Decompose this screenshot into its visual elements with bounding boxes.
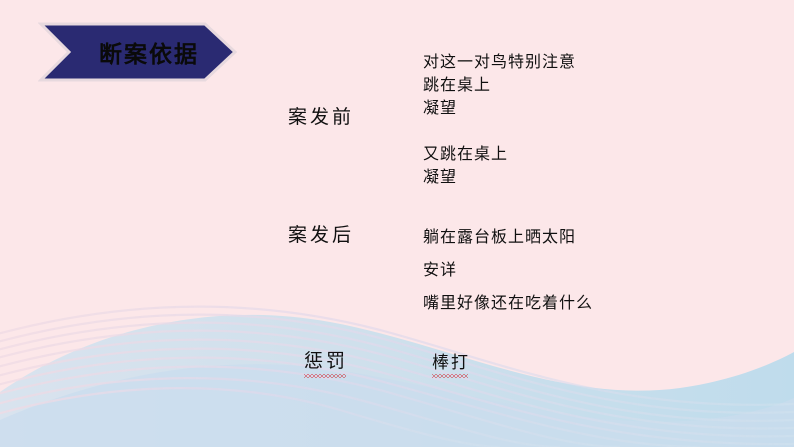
line-item: 跳在桌上: [423, 73, 576, 96]
section-banner: 断案依据: [38, 21, 238, 83]
punishment-label-text: 惩罚: [304, 346, 348, 373]
row-value-punishment: 棒打: [432, 348, 470, 373]
line-item: 又跳在桌上: [423, 142, 576, 165]
line-spacer: [423, 119, 576, 142]
line-item: 对这一对鸟特别注意: [423, 50, 576, 73]
row-label-punishment: 惩罚: [304, 346, 348, 373]
row-label-after: 案发后: [288, 220, 354, 247]
line-item: 躺在露台板上晒太阳: [423, 220, 593, 253]
line-item: 凝望: [423, 165, 576, 188]
slide-canvas: 断案依据 案发前 对这一对鸟特别注意 跳在桌上 凝望 又跳在桌上 凝望 案发后 …: [0, 0, 794, 447]
line-item: 嘴里好像还在吃着什么: [423, 286, 593, 319]
punishment-value-text: 棒打: [432, 348, 470, 373]
row-lines-before: 对这一对鸟特别注意 跳在桌上 凝望 又跳在桌上 凝望: [423, 50, 576, 188]
banner-title: 断案依据: [38, 21, 238, 83]
row-lines-after: 躺在露台板上晒太阳 安详 嘴里好像还在吃着什么: [423, 220, 593, 319]
line-item: 凝望: [423, 96, 576, 119]
row-label-before: 案发前: [288, 102, 354, 129]
line-item: 安详: [423, 253, 593, 286]
